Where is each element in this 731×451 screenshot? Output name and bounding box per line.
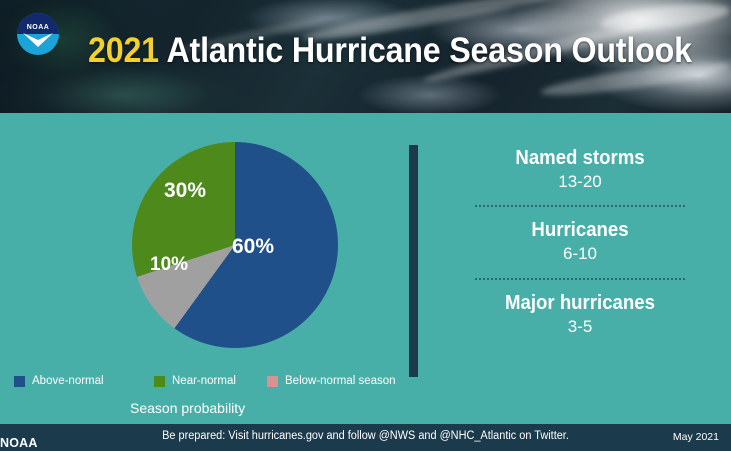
chart-legend: Above-normal Near-normal Below-normal se… bbox=[14, 375, 404, 393]
forecast-stats-panel: Named storms 13-20 Hurricanes 6-10 Major… bbox=[440, 147, 720, 337]
stat-major-hurricanes: Major hurricanes 3-5 bbox=[440, 292, 720, 337]
stat-value-named-storms: 13-20 bbox=[440, 171, 720, 192]
legend-swatch-below-normal bbox=[267, 376, 278, 387]
pie-label-near-normal: 30% bbox=[164, 180, 206, 201]
legend-label-near-normal: Near-normal bbox=[172, 376, 236, 388]
main-content: 60% 10% 30% Above-normal Near-normal Bel… bbox=[0, 113, 731, 424]
legend-item-below-normal: Below-normal season bbox=[267, 376, 396, 388]
chart-caption: Season probability bbox=[130, 401, 245, 415]
legend-label-below-normal: Below-normal season bbox=[285, 376, 396, 388]
stat-value-major-hurricanes: 3-5 bbox=[440, 316, 720, 337]
svg-text:NOAA: NOAA bbox=[27, 24, 50, 31]
legend-swatch-above-normal bbox=[14, 376, 25, 387]
pie-label-above-normal: 60% bbox=[232, 236, 274, 257]
pie-label-below-normal: 10% bbox=[150, 255, 188, 274]
legend-label-above-normal: Above-normal bbox=[32, 376, 104, 388]
stat-title-major-hurricanes: Major hurricanes bbox=[450, 292, 710, 315]
stat-title-hurricanes: Hurricanes bbox=[450, 219, 710, 242]
footer-bar: NOAA Be prepared: Visit hurricanes.gov a… bbox=[0, 424, 731, 451]
hurricane-season-outlook-infographic: NOAA 2021 Atlantic Hurricane Season Outl… bbox=[0, 0, 731, 451]
stat-title-named-storms: Named storms bbox=[450, 147, 710, 170]
footer-date: May 2021 bbox=[673, 432, 719, 443]
noaa-logo-icon: NOAA bbox=[13, 9, 63, 59]
footer-preparedness-note: Be prepared: Visit hurricanes.gov and fo… bbox=[18, 431, 712, 443]
legend-item-above-normal: Above-normal bbox=[14, 376, 104, 388]
stat-value-hurricanes: 6-10 bbox=[440, 243, 720, 264]
legend-item-near-normal: Near-normal bbox=[154, 376, 236, 388]
legend-swatch-near-normal bbox=[154, 376, 165, 387]
stat-named-storms: Named storms 13-20 bbox=[440, 147, 720, 192]
stat-separator bbox=[475, 205, 685, 207]
season-probability-pie-chart: 60% 10% 30% bbox=[132, 142, 338, 348]
title-text: Atlantic Hurricane Season Outlook bbox=[159, 31, 692, 70]
vertical-divider bbox=[409, 145, 418, 377]
page-title: 2021 Atlantic Hurricane Season Outlook bbox=[88, 33, 692, 68]
stat-separator bbox=[475, 278, 685, 280]
title-year: 2021 bbox=[88, 31, 159, 70]
header-banner: NOAA 2021 Atlantic Hurricane Season Outl… bbox=[0, 0, 731, 113]
stat-hurricanes: Hurricanes 6-10 bbox=[440, 219, 720, 264]
